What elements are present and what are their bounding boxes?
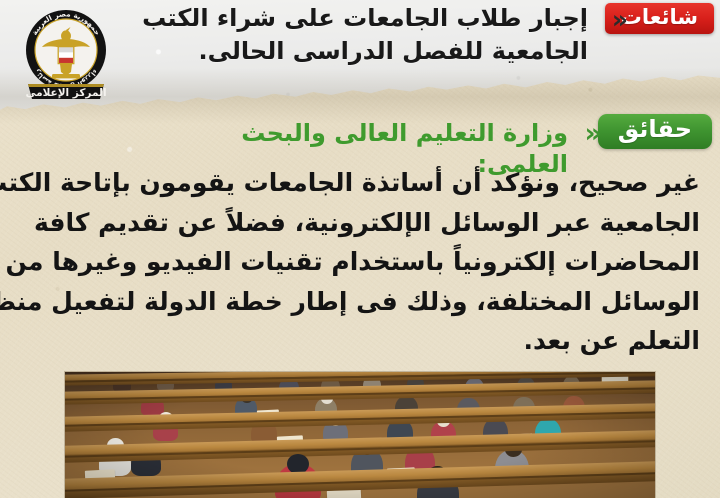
fact-chevron-icon: « — [585, 120, 602, 147]
rumor-line-2: للفصل الدراسى الحالى. — [198, 37, 483, 65]
infographic-canvas: جمهورية مصر العربية رئاسة مجلس الوزراء ا… — [0, 0, 720, 498]
lecture-hall-students-exam-photo — [65, 372, 655, 498]
fact-line-4: الوسائل المختلفة، وذلك فى إطار خطة الدول… — [20, 282, 700, 322]
rumor-badge-label: شائعات — [621, 5, 698, 29]
photo-vignette — [65, 372, 655, 498]
fact-badge-label: حقائق — [618, 115, 692, 143]
rumor-statement: إجبار طلاب الجامعات على شراء الكتب الجام… — [118, 2, 588, 67]
svg-text:المركز الإعلامى: المركز الإعلامى — [25, 87, 106, 99]
egypt-cabinet-media-center-logo: جمهورية مصر العربية رئاسة مجلس الوزراء ا… — [14, 6, 118, 102]
fact-line-3: المحاضرات إلكترونياً باستخدام تقنيات الف… — [20, 242, 700, 282]
lecture-hall-scene — [65, 372, 655, 498]
fact-line-2: الجامعية عبر الوسائل الإلكترونية، فضلاً … — [20, 203, 700, 243]
rumor-chevron-icon: « — [612, 7, 628, 32]
fact-line-1: غير صحيح، ونؤكد أن أساتذة الجامعات يقومو… — [20, 163, 700, 203]
fact-badge: حقائق — [598, 114, 712, 149]
fact-line-5: التعلم عن بعد. — [20, 321, 700, 361]
fact-body-text: غير صحيح، ونؤكد أن أساتذة الجامعات يقومو… — [20, 163, 700, 361]
